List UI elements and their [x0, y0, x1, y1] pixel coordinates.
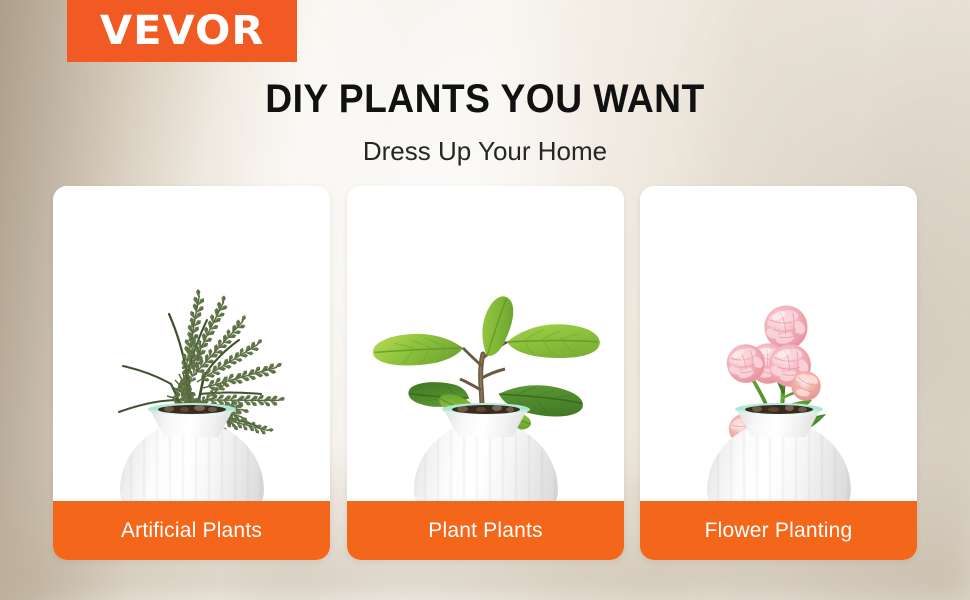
- card-label[interactable]: Artificial Plants: [53, 501, 330, 560]
- product-card-plant-plants[interactable]: Plant Plants: [347, 186, 624, 560]
- card-label-text: Artificial Plants: [121, 519, 262, 543]
- vase-soil: [452, 405, 520, 414]
- product-photo: [347, 186, 624, 501]
- product-card-flower-planting[interactable]: Flower Planting: [640, 186, 917, 560]
- ceramic-vase: [699, 403, 859, 501]
- product-card-artificial-plants[interactable]: Artificial Plants: [53, 186, 330, 560]
- card-label-text: Plant Plants: [428, 519, 542, 543]
- ceramic-vase: [112, 403, 272, 501]
- page-title: DIY PLANTS YOU WANT: [34, 79, 936, 119]
- product-photo: [640, 186, 917, 501]
- vase-soil: [158, 405, 226, 414]
- vevor-logo: VEVOR: [67, 0, 297, 62]
- card-label[interactable]: Plant Plants: [347, 501, 624, 560]
- card-label[interactable]: Flower Planting: [640, 501, 917, 560]
- card-label-text: Flower Planting: [705, 519, 853, 543]
- page-subtitle: Dress Up Your Home: [0, 135, 970, 169]
- product-photo: [53, 186, 330, 501]
- promo-banner: VEVOR DIY PLANTS YOU WANT Dress Up Your …: [0, 0, 970, 600]
- vevor-wordmark: VEVOR: [100, 11, 265, 51]
- ceramic-vase: [406, 403, 566, 501]
- vase-soil: [745, 405, 813, 414]
